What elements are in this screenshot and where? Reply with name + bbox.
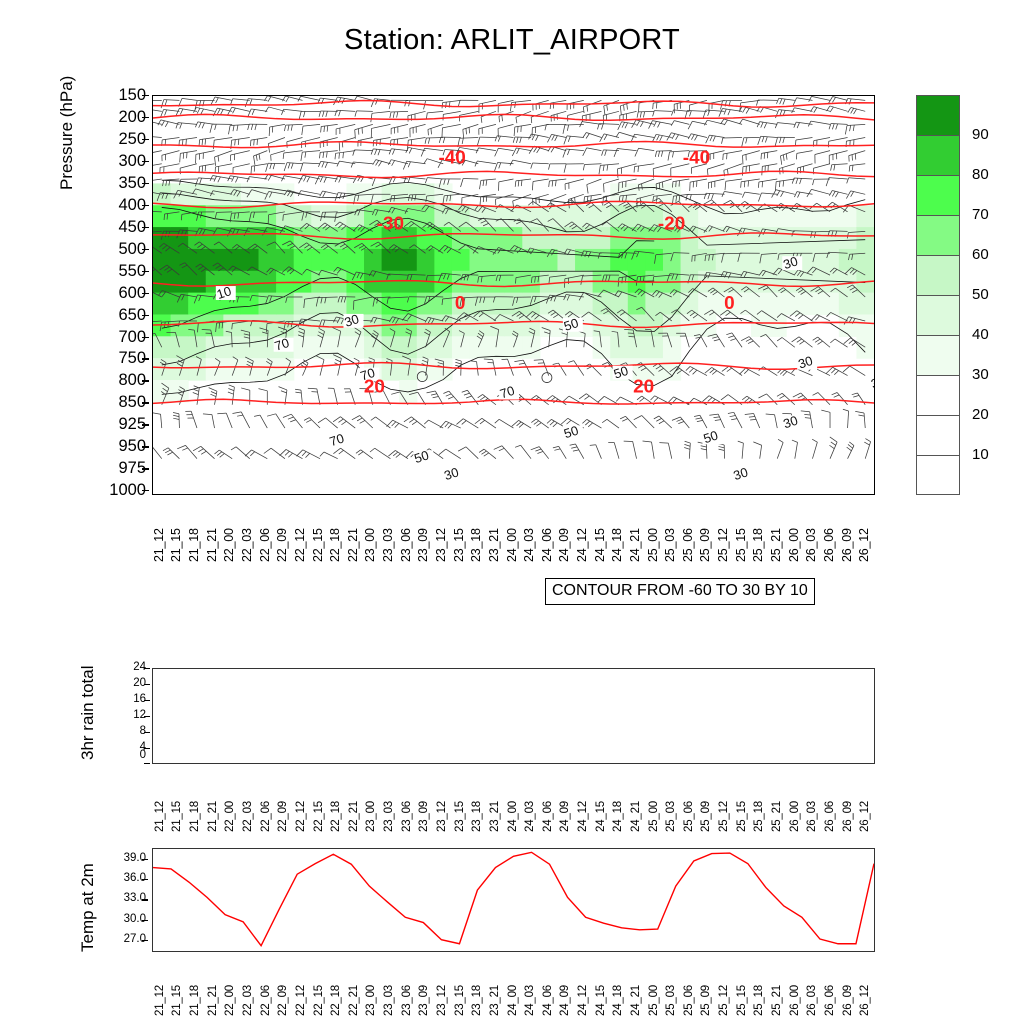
wind-barb-shaft [443,111,460,114]
x-tick-22_06: 22_06 [260,801,272,832]
wind-barb-feather [714,339,720,340]
x-tick-25_09: 25_09 [700,985,712,1016]
wind-barb-feather [537,451,543,453]
wind-barb-feather [495,148,499,156]
wind-barb-feather [288,163,290,169]
rh-cell [382,336,400,358]
rh-cell [698,227,716,249]
wind-barb-feather [792,440,798,442]
x-tick-23_21: 23_21 [489,801,501,832]
x-tick-24_03: 24_03 [522,528,536,562]
wind-barb-feather [266,163,268,172]
pressure-tick-450: 450 [102,219,146,236]
wind-barb-feather [730,339,736,341]
pressure-tick-925: 925 [102,416,146,433]
x-tick-24_21: 24_21 [628,528,642,562]
wind-barb-shaft [766,394,777,405]
wind-barb-feather [298,96,301,101]
wind-barb-feather [335,359,340,361]
wind-barb-feather [455,362,461,364]
wind-barb-shaft [410,124,426,128]
wind-barb-feather [210,124,212,133]
wind-barb-shaft [635,164,655,167]
wind-barb-shaft [479,124,496,128]
wind-barb-feather [552,181,553,187]
wind-barb-shaft [463,124,478,129]
pressure-tick-400: 400 [102,197,146,214]
wind-barb-feather [553,446,559,447]
wind-barb-feather [267,414,276,416]
x-tick-22_15: 22_15 [313,801,325,832]
temp-contour--30 [153,171,874,177]
pressure-tickmark [142,468,149,469]
x-tick-24_00: 24_00 [505,528,519,562]
x-tick-22_12: 22_12 [293,528,307,562]
wind-barb-shaft [153,151,162,154]
x-tick-25_12: 25_12 [718,985,730,1016]
wind-barb-feather [554,449,560,450]
wind-barb-shaft [161,414,162,428]
wind-barb-feather [851,108,854,113]
wind-barb-shaft [321,124,337,126]
wind-barb-shaft [481,194,496,196]
wind-barb-feather [250,99,252,105]
wind-barb-shaft [302,137,320,142]
wind-barb-shaft [620,111,637,115]
pressure-tick-650: 650 [102,307,146,324]
wind-barb-feather [371,149,373,155]
wind-barb-shaft [708,179,724,183]
wind-barb-feather [829,191,832,196]
wind-barb-shaft [818,337,830,347]
wind-barb-shaft [812,442,817,459]
x-tick-23_21: 23_21 [489,985,501,1016]
wind-barb-shaft [596,445,602,459]
wind-barb-shaft [832,164,848,165]
wind-barb-feather [326,111,328,117]
wind-barb-feather [389,149,391,155]
wind-barb-feather [519,363,525,364]
wind-barb-feather [273,163,275,169]
wind-barb-shaft [341,448,356,458]
x-tick-23_00: 23_00 [365,801,377,832]
wind-barb-shaft [673,179,689,182]
x-tick-25_06: 25_06 [683,985,695,1016]
wind-barb-feather [746,138,747,144]
x-tick-26_03: 26_03 [806,985,818,1016]
wind-barb-shaft [182,98,197,100]
rh-cell [856,293,874,315]
wind-barb-feather [604,106,605,115]
time-height-cross-section-plot[interactable]: 103050707070503050705050303030303030 -40… [152,95,875,495]
wind-barb-shaft [659,416,672,428]
wind-barb-feather [306,420,311,423]
wind-barb-shaft [512,100,531,102]
x-tick-25_15: 25_15 [734,528,748,562]
wind-barb-shaft [829,151,847,156]
wind-barb-shaft [230,124,250,125]
wind-barb-feather [684,444,690,446]
rh-cell [487,227,505,249]
wind-barb-feather [480,396,485,399]
wind-barb-shaft [284,109,303,111]
temp-contour-label: 20 [633,377,654,398]
wind-barb-shaft [499,179,514,182]
wind-barb-shaft [558,363,566,376]
wind-barb-shaft [286,124,303,125]
wind-barb-shaft [864,413,865,428]
wind-barb-feather [586,134,589,139]
wind-barb-feather [466,396,472,398]
x-tick-26_00: 26_00 [789,985,801,1016]
wind-barb-feather [583,107,584,113]
main-plot-canvas: 103050707070503050705050303030303030 -40… [153,96,874,494]
wind-barb-feather [568,361,574,363]
temperature-trace [153,852,874,945]
x-tick-24_12: 24_12 [575,528,589,562]
wind-barb-feather [517,422,521,426]
wind-barb-shaft [797,164,812,168]
wind-barb-shaft [460,111,479,115]
x-tick-22_21: 22_21 [348,801,360,832]
wind-barb-feather [620,106,621,115]
pressure-tick-250: 250 [102,131,146,148]
wind-barb-shaft [829,178,848,179]
pressure-tick-700: 700 [102,329,146,346]
wind-barb-feather [693,370,697,374]
wind-barb-feather [852,342,857,346]
wind-barb-feather [694,135,697,140]
wind-barb-feather [728,336,734,338]
wind-barb-feather [850,125,851,131]
wind-barb-shaft [336,151,356,154]
wind-barb-feather [479,449,484,452]
x-tick-23_03: 23_03 [383,985,395,1016]
wind-barb-shaft [233,99,250,101]
wind-barb-feather [233,108,236,113]
wind-barb-shaft [633,441,637,458]
wind-barb-feather [301,152,302,161]
wind-barb-feather [753,442,761,445]
wind-barb-feather [607,105,608,111]
rh-cell [663,336,681,358]
rh-cell [188,336,206,358]
wind-barb-shaft [200,164,215,167]
wind-barb-shaft [549,179,566,181]
temp-tickmark [142,899,148,900]
wind-barb-feather [268,144,269,153]
wind-barb-shaft [336,124,355,129]
wind-barb-feather [446,102,447,108]
wind-barb-shaft [302,151,320,152]
rh-cell [153,271,171,293]
wind-barb-feather [291,125,292,131]
wind-barb-shaft [284,176,302,179]
rh-cell [733,227,751,249]
wind-barb-feather [712,194,714,200]
x-tick-22_21: 22_21 [348,985,360,1016]
wind-barb-feather [684,448,690,450]
wind-barb-shaft [376,417,391,428]
wind-barb-feather [163,448,168,451]
wind-barb-shaft [391,137,408,139]
wind-barb-feather [534,360,543,361]
rh-cell [434,336,452,358]
rain-y-axis-ticks: 24201612840 [108,668,146,764]
pressure-tickmark [142,183,149,184]
wind-barb-feather [637,112,638,118]
wind-barb-feather [831,369,835,373]
colorbar-band-1 [916,135,960,175]
wind-barb-shaft [850,366,865,376]
x-tick-22_03: 22_03 [242,985,254,1016]
wind-barb-feather [798,192,800,197]
wind-barb-shaft [543,360,549,376]
wind-barb-feather [375,99,377,105]
wind-barb-feather [719,109,723,117]
x-tick-23_06: 23_06 [399,528,413,562]
wind-barb-shaft [241,412,249,428]
temp-plot-canvas [153,849,874,951]
wind-barb-feather [308,388,317,389]
rh-cell [856,205,874,227]
wind-barb-feather [393,452,398,456]
temp-contour-label: -40 [683,148,710,169]
wind-barb-feather [780,370,784,374]
wind-barb-feather [338,419,343,422]
wind-barb-feather [521,180,522,186]
wind-barb-feather [425,178,427,184]
wind-barb-feather [708,397,712,401]
wind-barb-feather [315,176,319,184]
wind-barb-shaft [320,151,337,153]
wind-barb-feather [640,122,643,127]
wind-barb-feather [745,398,750,402]
wind-barb-feather [815,339,820,342]
wind-barb-shaft [743,119,760,124]
x-tick-22_09: 22_09 [277,985,289,1016]
x-tick-23_00: 23_00 [365,985,377,1016]
wind-barb-feather [655,151,656,157]
wind-barb-shaft [813,164,830,168]
rh-cell [417,314,435,336]
wind-barb-feather [318,418,325,423]
rh-cell [399,249,417,271]
wind-barb-shaft [320,360,324,376]
colorbar-label-70: 70 [972,207,989,222]
pressure-tickmark [142,95,149,96]
wind-barb-feather [728,110,730,115]
wind-barb-feather [848,444,853,448]
wind-barb-feather [797,339,802,342]
x-tick-26_03: 26_03 [806,801,818,832]
wind-barb-feather [237,125,238,131]
wind-barb-feather [198,449,203,452]
wind-barb-feather [352,415,360,419]
temp-x-axis-ticks: 21_1221_1521_1821_2122_0022_0322_0622_09… [152,954,875,1016]
rh-cell [698,205,716,227]
wind-barb-feather [323,192,326,197]
wind-barb-shaft [741,179,760,182]
wind-barb-feather [553,423,557,427]
rh-cell [470,336,488,358]
wind-barb-feather [792,178,794,184]
wind-barb-feather [832,191,835,196]
wind-barb-feather [326,152,327,158]
rh-cell [768,293,786,315]
x-tick-26_09: 26_09 [840,528,854,562]
temp-y-axis-label: Temp at 2m [78,863,98,952]
wind-barb-shaft [334,388,338,404]
rain-tick-20: 20 [112,678,146,690]
wind-barb-shaft [724,164,742,171]
wind-barb-feather [654,398,658,402]
wind-barb-shaft [249,177,267,179]
wind-barb-shaft [302,363,308,375]
wind-barb-feather [515,445,521,447]
wind-barb-shaft [607,419,619,428]
x-tick-24_03: 24_03 [524,801,536,832]
x-tick-26_06: 26_06 [822,528,836,562]
wind-barb-shaft [850,164,865,166]
wind-barb-feather [215,124,217,130]
rh-cell [839,205,857,227]
wind-barb-shaft [466,447,478,459]
wind-barb-feather [779,181,780,187]
wind-barb-shaft [829,137,848,141]
wind-barb-shaft [276,414,285,428]
wind-barb-shaft [391,111,408,112]
wind-barb-feather [781,192,784,197]
wind-barb-feather [749,416,755,417]
wind-barb-feather [255,124,256,130]
wind-barb-feather [446,394,451,396]
pressure-tickmark [142,249,149,250]
wind-barb-feather [585,396,590,400]
wind-barb-feather [333,448,340,453]
wind-barb-shaft [355,124,373,129]
main-y-axis-ticks: 1502002503003504004505005506006507007508… [98,95,146,495]
wind-barb-feather [510,160,513,165]
wind-barb-feather [766,414,775,415]
wind-barb-shaft [153,164,162,167]
rh-cell [505,249,523,271]
wind-barb-shaft [179,137,197,140]
wind-barb-feather [602,419,607,422]
temperature-2m-plot[interactable] [152,848,875,952]
wind-barb-shaft [215,151,233,157]
colorbar-label-10: 10 [972,447,989,462]
wind-barb-feather [833,97,836,102]
rain-total-plot[interactable] [152,668,875,764]
wind-barb-feather [421,148,424,156]
rh-cell [188,249,206,271]
x-tick-23_09: 23_09 [416,528,430,562]
wind-barb-feather [708,194,710,200]
wind-barb-feather [779,137,781,143]
wind-barb-shaft [271,151,285,155]
pressure-tick-500: 500 [102,241,146,258]
wind-barb-feather [677,419,683,421]
x-tick-25_18: 25_18 [751,528,765,562]
wind-barb-feather [510,102,511,111]
x-tick-22_15: 22_15 [313,985,325,1016]
wind-barb-feather [220,109,223,114]
x-tick-22_00: 22_00 [224,985,236,1016]
rh-cell [856,314,874,336]
wind-barb-feather [371,113,372,122]
wind-barb-shaft [463,419,478,428]
wind-barb-shaft [619,179,637,183]
wind-barb-feather [777,337,782,340]
pressure-tickmark [142,271,149,272]
temp-contour-30 [153,399,874,404]
temp-contour-label: -20 [658,213,685,234]
wind-barb-shaft [254,151,268,156]
x-tick-22_09: 22_09 [277,801,289,832]
rh-cell [839,227,857,249]
wind-barb-shaft [815,151,830,155]
wind-barb-feather [742,192,744,197]
wind-barb-feather [547,419,551,423]
pressure-tick-750: 750 [102,350,146,367]
rh-cell [171,293,189,315]
wind-barb-shaft [687,111,707,112]
wind-barb-feather [495,419,499,423]
wind-barb-feather [661,151,662,157]
wind-barb-feather [834,371,838,375]
wind-barb-feather [809,96,812,101]
temp-contour-label: 0 [455,293,466,314]
wind-barb-feather [601,124,603,130]
wind-barb-shaft [599,124,619,125]
wind-barb-feather [746,339,751,342]
wind-barb-feather [320,452,324,456]
rh-cell [329,293,347,315]
rh-cell [276,205,294,227]
wind-barb-feather [553,363,559,364]
wind-barb-shaft [428,124,443,129]
wind-barb-feather [688,134,691,139]
temp-tickmark [142,940,148,941]
wind-barb-feather [202,139,203,145]
wind-barb-feather [256,155,257,161]
wind-barb-feather [193,393,199,395]
wind-barb-feather [162,121,165,126]
wind-barb-feather [217,452,222,456]
wind-barb-feather [582,419,586,423]
rh-cell [610,227,628,249]
x-tick-25_21: 25_21 [771,985,783,1016]
wind-barb-feather [516,137,518,143]
rh-cell [540,227,558,249]
x-tick-22_18: 22_18 [330,801,342,832]
wind-barb-feather [535,449,541,451]
wind-barb-feather [563,125,565,134]
wind-barb-feather [793,98,797,106]
rh-cell [382,249,400,271]
wind-barb-shaft [350,389,355,405]
rh-cell [716,227,734,249]
temp-contour--60 [153,100,874,107]
wind-barb-feather [848,108,851,113]
pressure-tick-600: 600 [102,285,146,302]
wind-barb-feather [587,185,588,194]
rh-cell [610,205,628,227]
wind-barb-shaft [353,162,373,164]
wind-barb-shaft [618,164,637,169]
wind-barb-shaft [287,137,303,141]
